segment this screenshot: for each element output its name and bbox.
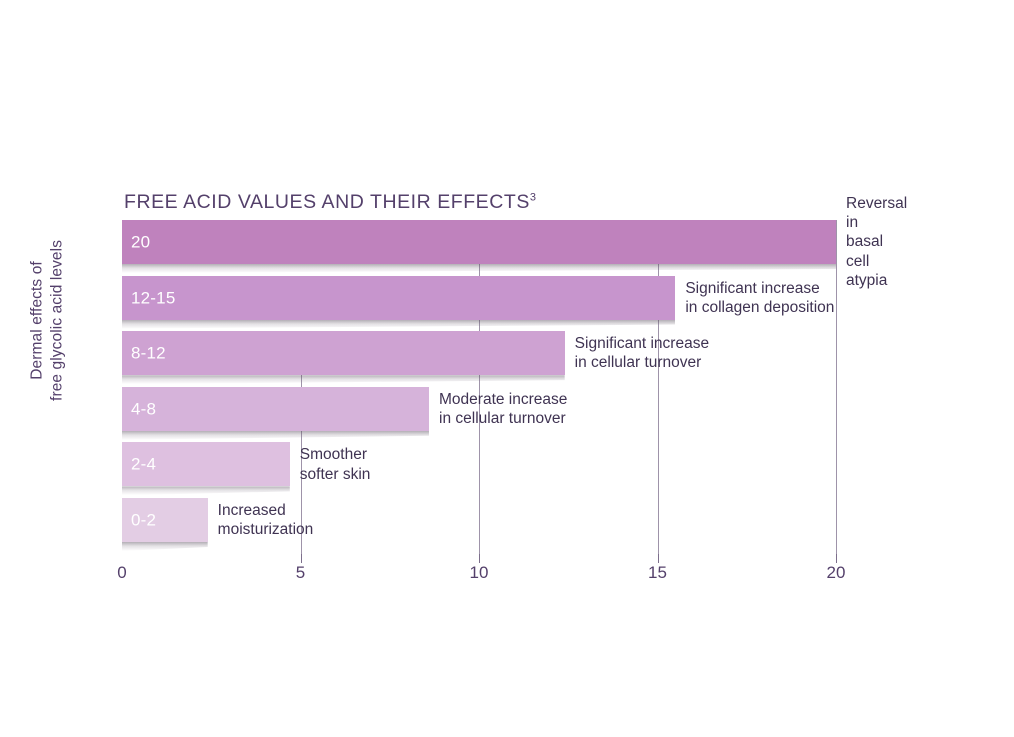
bar-annotation: Reversal in basal cell atypia (846, 194, 907, 290)
bar-annotation: Smoother softer skin (300, 445, 371, 483)
bar-row: 12-15Significant increase in collagen de… (122, 276, 836, 320)
x-tick-label: 10 (470, 564, 489, 581)
bar-value-label: 2-4 (131, 456, 156, 473)
chart-title: FREE ACID VALUES AND THEIR EFFECTS3 (124, 191, 536, 214)
bar-shadow (122, 486, 290, 495)
chart-figure: Dermal effects of free glycolic acid lev… (0, 0, 1014, 737)
bar-value-label: 4-8 (131, 400, 156, 417)
bar-value-label: 12-15 (131, 289, 175, 306)
x-tick-label: 5 (296, 564, 305, 581)
chart-title-text: FREE ACID VALUES AND THEIR EFFECTS (124, 191, 530, 213)
x-axis: 05101520 (122, 554, 836, 594)
bar[interactable] (122, 220, 836, 264)
bar-annotation: Significant increase in cellular turnove… (575, 334, 709, 372)
y-axis-label: Dermal effects of free glycolic acid lev… (28, 210, 69, 430)
bar-shadow (122, 320, 675, 329)
x-tick-label: 15 (648, 564, 667, 581)
bar[interactable] (122, 276, 675, 320)
x-tick-10 (479, 554, 480, 563)
bar-shadow (122, 375, 565, 384)
plot-area: 20Reversal in basal cell atypia12-15Sign… (122, 220, 836, 554)
chart-title-superscript: 3 (530, 192, 536, 204)
bar[interactable] (122, 387, 429, 431)
x-tick-15 (658, 554, 659, 563)
bar-value-label: 8-12 (131, 345, 166, 362)
x-tick-label: 0 (117, 564, 126, 581)
x-tick-20 (836, 554, 837, 563)
bar-annotation: Moderate increase in cellular turnover (439, 390, 567, 428)
bar-annotation: Significant increase in collagen deposit… (685, 278, 834, 316)
bar-row: 2-4Smoother softer skin (122, 442, 836, 486)
x-tick-5 (301, 554, 302, 563)
bar[interactable] (122, 331, 565, 375)
bar-value-label: 0-2 (131, 512, 156, 529)
bar-row: 8-12Significant increase in cellular tur… (122, 331, 836, 375)
bar-shadow (122, 542, 208, 551)
bar-row: 20Reversal in basal cell atypia (122, 220, 836, 264)
bar-row: 0-2Increased moisturization (122, 498, 836, 542)
gridline-20 (836, 220, 837, 554)
bar-shadow (122, 431, 429, 440)
bar-row: 4-8Moderate increase in cellular turnove… (122, 387, 836, 431)
bar-value-label: 20 (131, 234, 150, 251)
x-tick-label: 20 (827, 564, 846, 581)
bar-annotation: Increased moisturization (218, 501, 314, 539)
